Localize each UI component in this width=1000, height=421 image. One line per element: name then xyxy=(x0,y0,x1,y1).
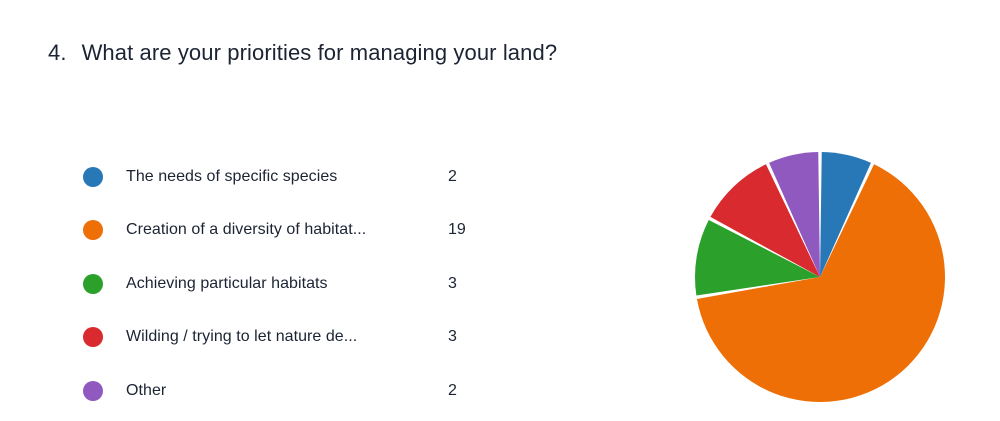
survey-result-slide: 4. What are your priorities for managing… xyxy=(0,0,1000,421)
question-text: What are your priorities for managing yo… xyxy=(82,40,558,66)
legend-item-count: 3 xyxy=(448,328,457,346)
legend-item-label: Other xyxy=(126,382,166,400)
legend-swatch-dot-icon xyxy=(83,327,103,347)
legend-item-label: The needs of specific species xyxy=(126,168,337,186)
legend-swatch-dot-icon xyxy=(83,274,103,294)
legend-item-count: 2 xyxy=(448,382,457,400)
legend-item-label: Creation of a diversity of habitat... xyxy=(126,221,366,239)
legend-item[interactable]: Wilding / trying to let nature de...3 xyxy=(83,311,503,365)
legend-swatch-dot-icon xyxy=(83,167,103,187)
legend-item[interactable]: Creation of a diversity of habitat...19 xyxy=(83,204,503,258)
legend-item[interactable]: The needs of specific species2 xyxy=(83,150,503,204)
chart-legend: The needs of specific species2Creation o… xyxy=(83,150,503,418)
page-title: 4. What are your priorities for managing… xyxy=(48,40,557,66)
question-number: 4. xyxy=(48,40,67,66)
legend-item[interactable]: Other2 xyxy=(83,364,503,418)
legend-item-count: 3 xyxy=(448,275,457,293)
pie-chart-svg xyxy=(680,137,970,421)
legend-item-count: 2 xyxy=(448,168,457,186)
legend-swatch-dot-icon xyxy=(83,381,103,401)
legend-swatch-dot-icon xyxy=(83,220,103,240)
legend-item[interactable]: Achieving particular habitats3 xyxy=(83,257,503,311)
legend-item-label: Wilding / trying to let nature de... xyxy=(126,328,357,346)
legend-item-label: Achieving particular habitats xyxy=(126,275,328,293)
pie-chart xyxy=(680,137,970,421)
legend-item-count: 19 xyxy=(448,221,466,239)
